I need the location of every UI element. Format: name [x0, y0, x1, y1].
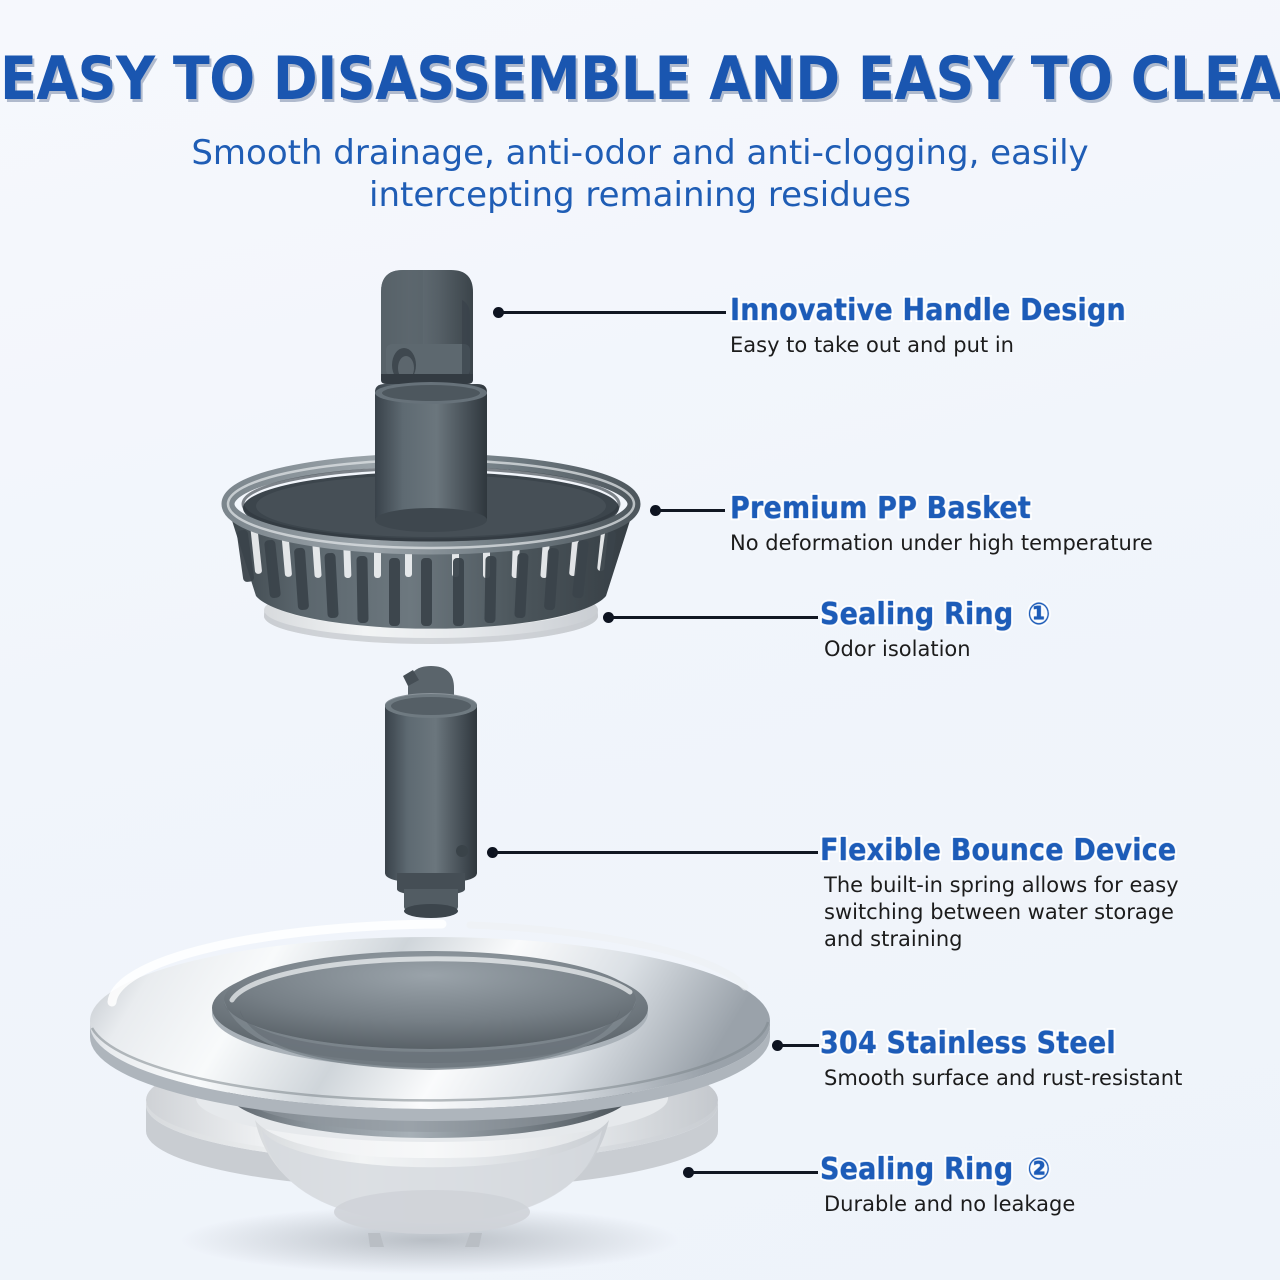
callout-subtext: Odor isolation — [824, 636, 1050, 663]
callout-badge: ① — [1027, 597, 1050, 632]
infographic-canvas: EASY TO DISASSEMBLE AND EASY TO CLEAN Sm… — [0, 0, 1280, 1280]
callout-subtext: Easy to take out and put in — [730, 332, 1126, 359]
callout-sealing-ring-2: Sealing Ring② Durable and no leakage — [820, 1153, 1075, 1218]
page-title: EASY TO DISASSEMBLE AND EASY TO CLEAN — [0, 48, 1280, 110]
callout-subtext: No deformation under high temperature — [730, 530, 1153, 557]
part-sealing-ring-lower — [146, 1042, 718, 1247]
callout-subtext: The built-in spring allows for easy swit… — [824, 872, 1179, 953]
callout-heading: Sealing Ring① — [820, 598, 1050, 632]
part-bounce-device — [385, 666, 477, 918]
part-pp-basket — [228, 430, 634, 629]
callout-heading: Sealing Ring② — [820, 1153, 1075, 1187]
callout-heading-text: Sealing Ring — [820, 597, 1013, 632]
callout-innovative-handle-design: Innovative Handle Design Easy to take ou… — [730, 294, 1126, 359]
callout-sealing-ring-1: Sealing Ring① Odor isolation — [820, 598, 1050, 663]
leader-line-steel — [779, 1044, 819, 1047]
callout-heading: Flexible Bounce Device — [820, 834, 1179, 868]
callout-heading-text: Premium PP Basket — [730, 491, 1031, 526]
callout-premium-pp-basket: Premium PP Basket No deformation under h… — [730, 492, 1153, 557]
leader-line-sealing-ring-2 — [690, 1171, 818, 1174]
callout-heading-text: 304 Stainless Steel — [820, 1026, 1116, 1061]
callout-subtext: Smooth surface and rust-resistant — [824, 1065, 1182, 1092]
callout-304-stainless-steel: 304 Stainless Steel Smooth surface and r… — [820, 1027, 1182, 1092]
callout-badge: ② — [1027, 1152, 1050, 1187]
callout-flexible-bounce-device: Flexible Bounce Device The built-in spri… — [820, 834, 1179, 953]
leader-line-basket — [657, 509, 725, 512]
callout-heading: 304 Stainless Steel — [820, 1027, 1182, 1061]
callout-subtext: Durable and no leakage — [824, 1191, 1075, 1218]
callout-heading-text: Flexible Bounce Device — [820, 833, 1176, 868]
part-handle — [375, 270, 487, 508]
leader-line-handle — [500, 311, 726, 314]
part-stainless-steel — [90, 924, 770, 1138]
callout-heading-text: Sealing Ring — [820, 1152, 1013, 1187]
callout-heading: Innovative Handle Design — [730, 294, 1126, 328]
page-subtitle: Smooth drainage, anti-odor and anti-clog… — [140, 132, 1140, 216]
leader-line-sealing-ring-1 — [610, 616, 818, 619]
callout-heading-text: Innovative Handle Design — [730, 293, 1126, 328]
leader-line-bounce — [494, 851, 818, 854]
part-sealing-ring-upper — [264, 582, 598, 644]
callout-heading: Premium PP Basket — [730, 492, 1153, 526]
